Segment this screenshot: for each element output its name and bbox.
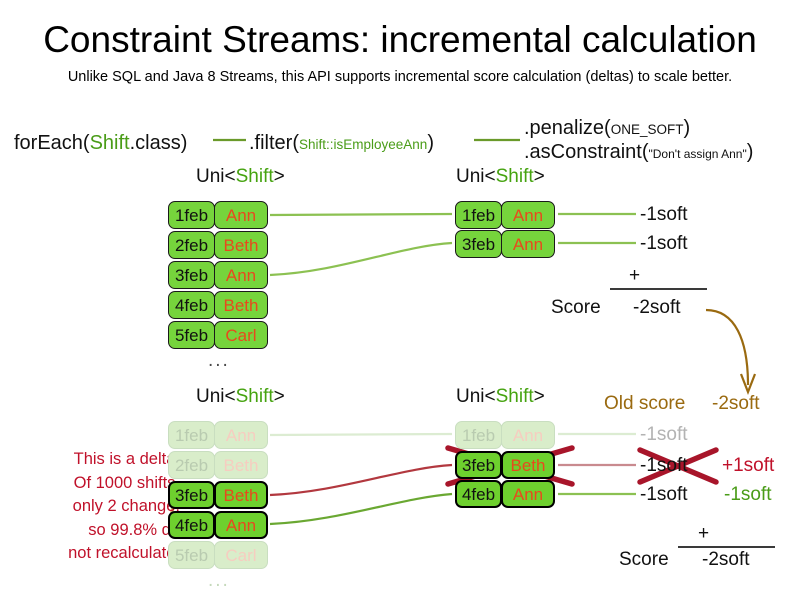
shift-employee: Beth (501, 451, 555, 479)
shift-date: 4feb (455, 480, 502, 508)
shift-date: 2feb (168, 231, 215, 259)
shift-date: 2feb (168, 451, 215, 479)
shift-employee: Ann (501, 230, 555, 258)
shift-box-removed[interactable]: 3feb Beth (455, 451, 555, 479)
penalty-label: -1soft (640, 424, 688, 446)
shift-date: 3feb (455, 451, 502, 479)
penalty-label: -1soft (640, 233, 688, 255)
shift-box[interactable]: 3feb Ann (168, 261, 268, 289)
shift-box-changed[interactable]: 4feb Ann (168, 511, 268, 539)
shift-date: 1feb (168, 421, 215, 449)
score-total: -2soft (702, 549, 750, 571)
shift-date: 3feb (168, 261, 215, 289)
shift-employee: Carl (214, 541, 268, 569)
shift-date: 1feb (455, 201, 502, 229)
shift-employee: Ann (501, 201, 555, 229)
shift-box[interactable]: 4feb Beth (168, 291, 268, 319)
shift-date: 1feb (168, 201, 215, 229)
score-label: Score (551, 297, 601, 319)
shift-date: 3feb (455, 230, 502, 258)
shift-box[interactable]: 2feb Beth (168, 231, 268, 259)
shift-date: 5feb (168, 541, 215, 569)
shift-date: 4feb (168, 511, 215, 539)
shift-employee: Ann (501, 421, 555, 449)
score-total: -2soft (633, 297, 681, 319)
shift-employee: Ann (214, 201, 268, 229)
shift-list-ellipsis: ... (208, 351, 230, 370)
score-divider (610, 288, 707, 290)
shift-employee: Ann (501, 480, 555, 508)
shift-box[interactable]: 2feb Beth (168, 451, 268, 479)
shift-box-added[interactable]: 4feb Ann (455, 480, 555, 508)
penalty-label: -1soft (640, 204, 688, 226)
shift-employee: Ann (214, 511, 268, 539)
shift-date: 5feb (168, 321, 215, 349)
delta-label-add: +1soft (722, 455, 774, 477)
shift-employee: Ann (214, 261, 268, 289)
old-score-value: -2soft (712, 393, 760, 415)
shift-box[interactable]: 5feb Carl (168, 321, 268, 349)
delta-note: This is a delta. Of 1000 shifts, only 2 … (6, 448, 180, 566)
shift-box[interactable]: 1feb Ann (168, 201, 268, 229)
slide-canvas: Constraint Streams: incremental calculat… (0, 0, 800, 600)
shift-date: 1feb (455, 421, 502, 449)
shift-employee: Carl (214, 321, 268, 349)
score-divider (678, 546, 775, 548)
delta-label-remove: -1soft (724, 484, 772, 506)
score-plus-sign: + (629, 266, 640, 285)
penalty-label: -1soft (640, 484, 688, 506)
penalty-label-struck: -1soft (640, 455, 688, 477)
shift-employee: Beth (214, 481, 268, 509)
shift-box[interactable]: 1feb Ann (455, 421, 555, 449)
shift-box[interactable]: 3feb Ann (455, 230, 555, 258)
shift-employee: Beth (214, 291, 268, 319)
shift-box-changed[interactable]: 3feb Beth (168, 481, 268, 509)
shift-box[interactable]: 1feb Ann (455, 201, 555, 229)
shift-box[interactable]: 5feb Carl (168, 541, 268, 569)
shift-box[interactable]: 1feb Ann (168, 421, 268, 449)
score-plus-sign: + (698, 524, 709, 543)
shift-date: 4feb (168, 291, 215, 319)
shift-list-ellipsis: ... (208, 571, 230, 590)
old-score-label: Old score (604, 393, 685, 415)
shift-employee: Beth (214, 231, 268, 259)
shift-date: 3feb (168, 481, 215, 509)
shift-employee: Beth (214, 451, 268, 479)
score-label: Score (619, 549, 669, 571)
shift-employee: Ann (214, 421, 268, 449)
